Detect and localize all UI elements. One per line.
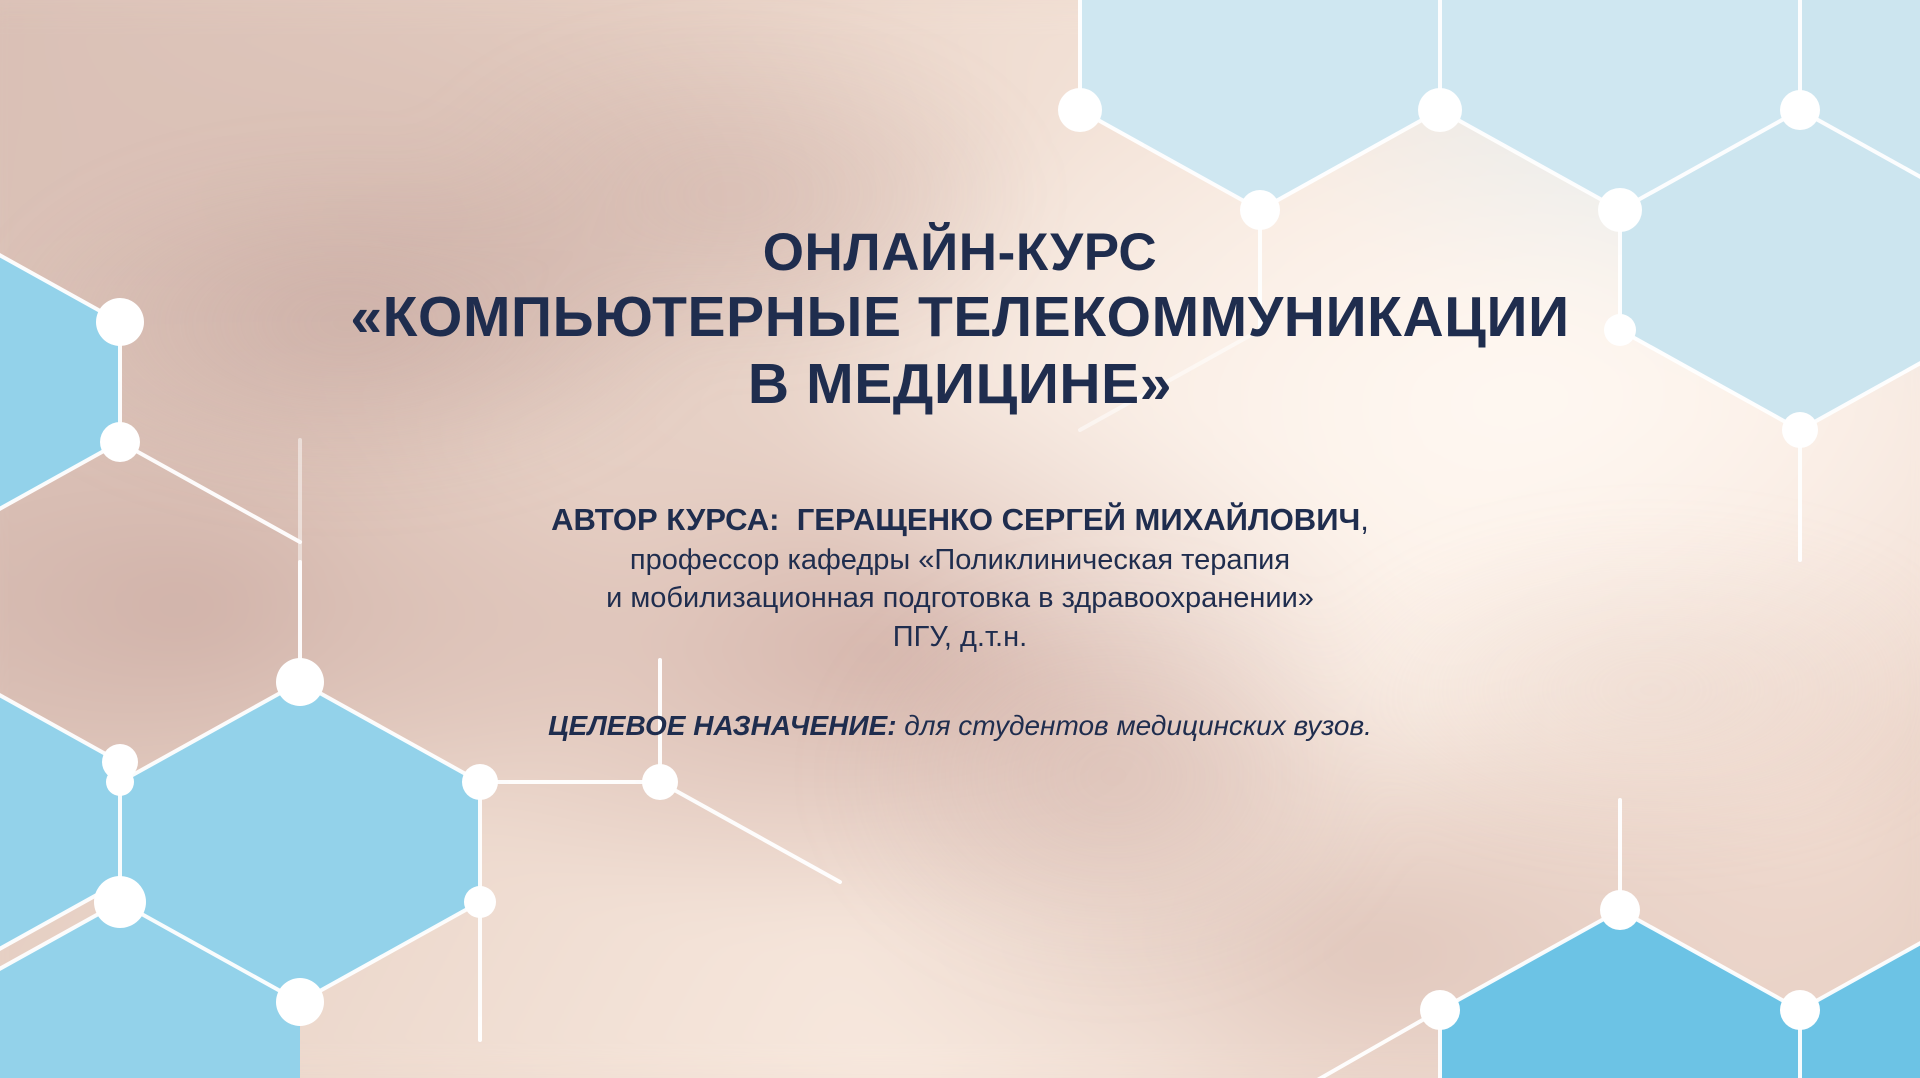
network-node — [1598, 188, 1642, 232]
network-node — [1782, 412, 1818, 448]
network-node — [100, 422, 140, 462]
network-node — [642, 764, 678, 800]
network-node — [1240, 190, 1280, 230]
network-node — [96, 298, 144, 346]
hexagon-shape — [0, 222, 120, 542]
network-node — [276, 978, 324, 1026]
hexagon-shape — [1080, 0, 1440, 210]
network-node — [94, 876, 146, 928]
network-node — [1780, 990, 1820, 1030]
network-node — [1780, 90, 1820, 130]
network-node — [1418, 88, 1462, 132]
hexagon-network-overlay — [0, 0, 1920, 1078]
network-node — [106, 768, 134, 796]
network-node — [462, 764, 498, 800]
presentation-slide: ОНЛАЙН-КУРС «КОМПЬЮТЕРНЫЕ ТЕЛЕКОММУНИКАЦ… — [0, 0, 1920, 1078]
network-node — [1420, 990, 1460, 1030]
network-node — [276, 658, 324, 706]
network-node — [1058, 88, 1102, 132]
hexagon-shape — [1440, 910, 1800, 1078]
hexagon-shape — [1800, 910, 1920, 1078]
network-node — [1600, 890, 1640, 930]
network-node — [1604, 314, 1636, 346]
network-node — [464, 886, 496, 918]
